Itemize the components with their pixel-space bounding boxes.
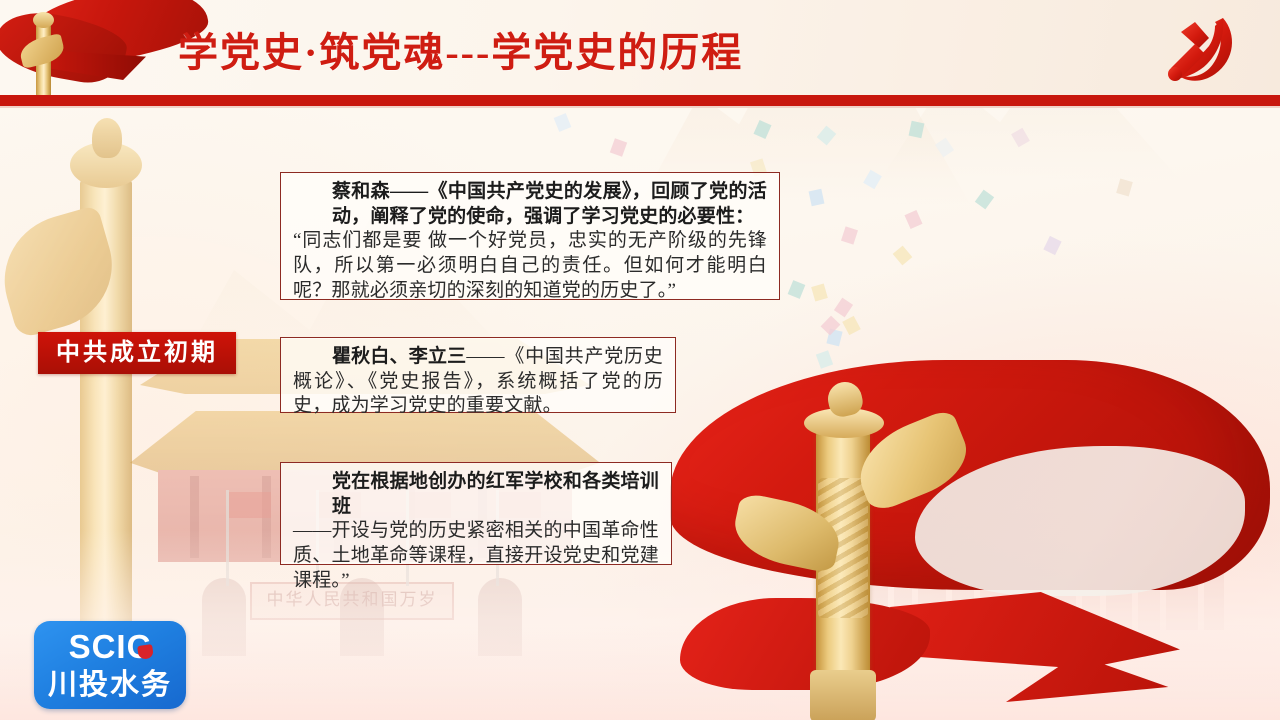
confetti-piece — [909, 121, 925, 138]
section-label-chip: 中共成立初期 — [38, 332, 236, 374]
confetti-piece — [863, 170, 882, 189]
page-title: 学党史·筑党魂---学党史的历程 — [178, 22, 878, 84]
confetti-piece — [809, 189, 825, 206]
text-box-3-body: ——开设与党的历史紧密相关的中国革命性质、土地革命等课程，直接开设党史和党建课程… — [293, 520, 659, 590]
header-banner: 学党史·筑党魂---学党史的历程 — [0, 0, 1280, 108]
slide-root: 中华人民共和国万岁 — [0, 0, 1280, 720]
text-box-red-army-schools: 党在根据地创办的红军学校和各类培训班——开设与党的历史紧密相关的中国革命性质、土… — [280, 462, 672, 565]
confetti-piece — [1043, 236, 1061, 255]
text-box-1-body: “同志们都是要 做一个好党员，忠实的无产阶级的先锋队，所以第一必须明白自己的责任… — [293, 230, 767, 300]
header-huabiao-icon — [26, 6, 60, 106]
confetti-piece — [834, 298, 853, 318]
confetti-piece — [821, 316, 841, 336]
scic-logo: SCIC 川投水务 — [34, 621, 186, 709]
confetti-piece — [1116, 178, 1133, 196]
text-box-2-bold-lead: 瞿秋白、李立三 — [293, 345, 466, 370]
confetti-piece — [1011, 128, 1030, 147]
confetti-piece — [935, 138, 954, 158]
party-hammer-sickle-icon — [1155, 12, 1251, 92]
text-box-qiuqiubai-liliesan: 瞿秋白、李立三——《中国共产党历史概论》、《党史报告》，系统概括了党的历史，成为… — [280, 337, 676, 413]
flag-tail — [890, 592, 1180, 717]
confetti-piece — [826, 329, 842, 347]
header-red-bar — [0, 95, 1280, 106]
confetti-piece — [975, 190, 994, 210]
confetti-piece — [554, 113, 572, 132]
huabiao-column-left-art — [36, 118, 168, 678]
confetti-piece — [788, 280, 806, 299]
red-flag-huabiao-illustration — [660, 360, 1280, 720]
text-box-1-bold-lead: 蔡和森——《中国共产党史的发展》，回顾了党的活动，阐释了党的使命，强调了学习党史… — [293, 180, 767, 229]
confetti-piece — [811, 283, 828, 301]
confetti-piece — [754, 120, 772, 139]
confetti-piece — [893, 246, 913, 266]
confetti-piece — [610, 138, 627, 157]
confetti-piece — [817, 126, 837, 146]
logo-line-1: SCIC — [34, 627, 186, 667]
text-box-caihesen: 蔡和森——《中国共产党史的发展》，回顾了党的活动，阐释了党的使命，强调了学习党史… — [280, 172, 780, 300]
confetti-piece — [841, 226, 858, 244]
header-bar-shadow — [0, 106, 1280, 108]
confetti-piece — [842, 316, 861, 335]
text-box-3-bold-lead: 党在根据地创办的红军学校和各类培训班 — [293, 470, 659, 519]
huabiao-column-right-art — [752, 382, 932, 720]
logo-line-2: 川投水务 — [34, 665, 186, 705]
confetti-piece — [905, 210, 923, 229]
